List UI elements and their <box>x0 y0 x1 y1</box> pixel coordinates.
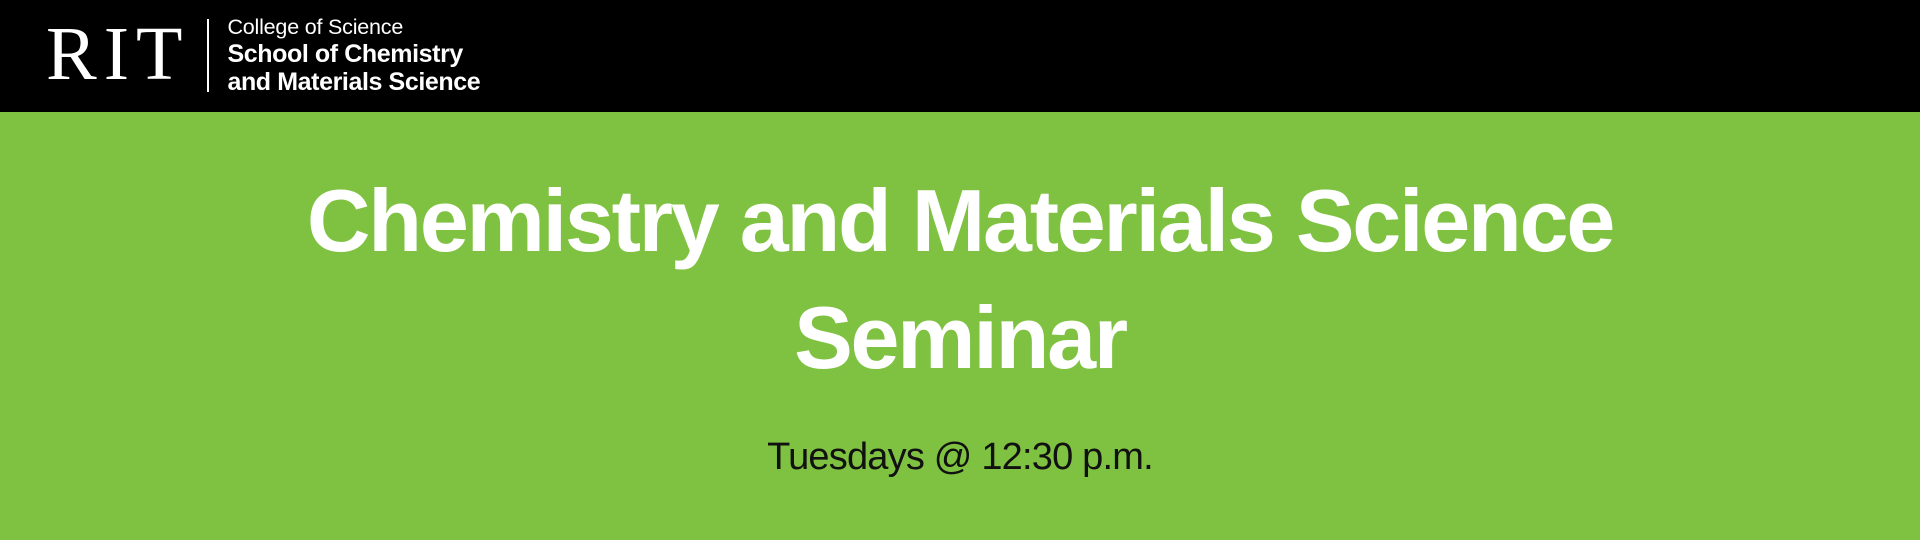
logo-school-line-2: and Materials Science <box>227 68 480 96</box>
page-title-line-2: Seminar <box>0 279 1920 396</box>
page-title-line-1: Chemistry and Materials Science <box>0 162 1920 279</box>
logo-school-line-1: School of Chemistry <box>227 40 480 68</box>
page-title: Chemistry and Materials Science Seminar <box>0 162 1920 396</box>
green-panel: Chemistry and Materials Science Seminar … <box>0 112 1920 540</box>
seminar-banner: RIT College of Science School of Chemist… <box>0 0 1920 540</box>
header-bar: RIT College of Science School of Chemist… <box>0 0 1920 112</box>
page-subtitle: Tuesdays @ 12:30 p.m. <box>0 434 1920 480</box>
rit-logo-lockup[interactable]: RIT College of Science School of Chemist… <box>46 0 480 112</box>
logo-text-block: College of Science School of Chemistry a… <box>227 15 480 96</box>
rit-wordmark: RIT <box>46 16 193 92</box>
vertical-divider-icon <box>207 19 209 92</box>
logo-college-line: College of Science <box>227 15 480 40</box>
